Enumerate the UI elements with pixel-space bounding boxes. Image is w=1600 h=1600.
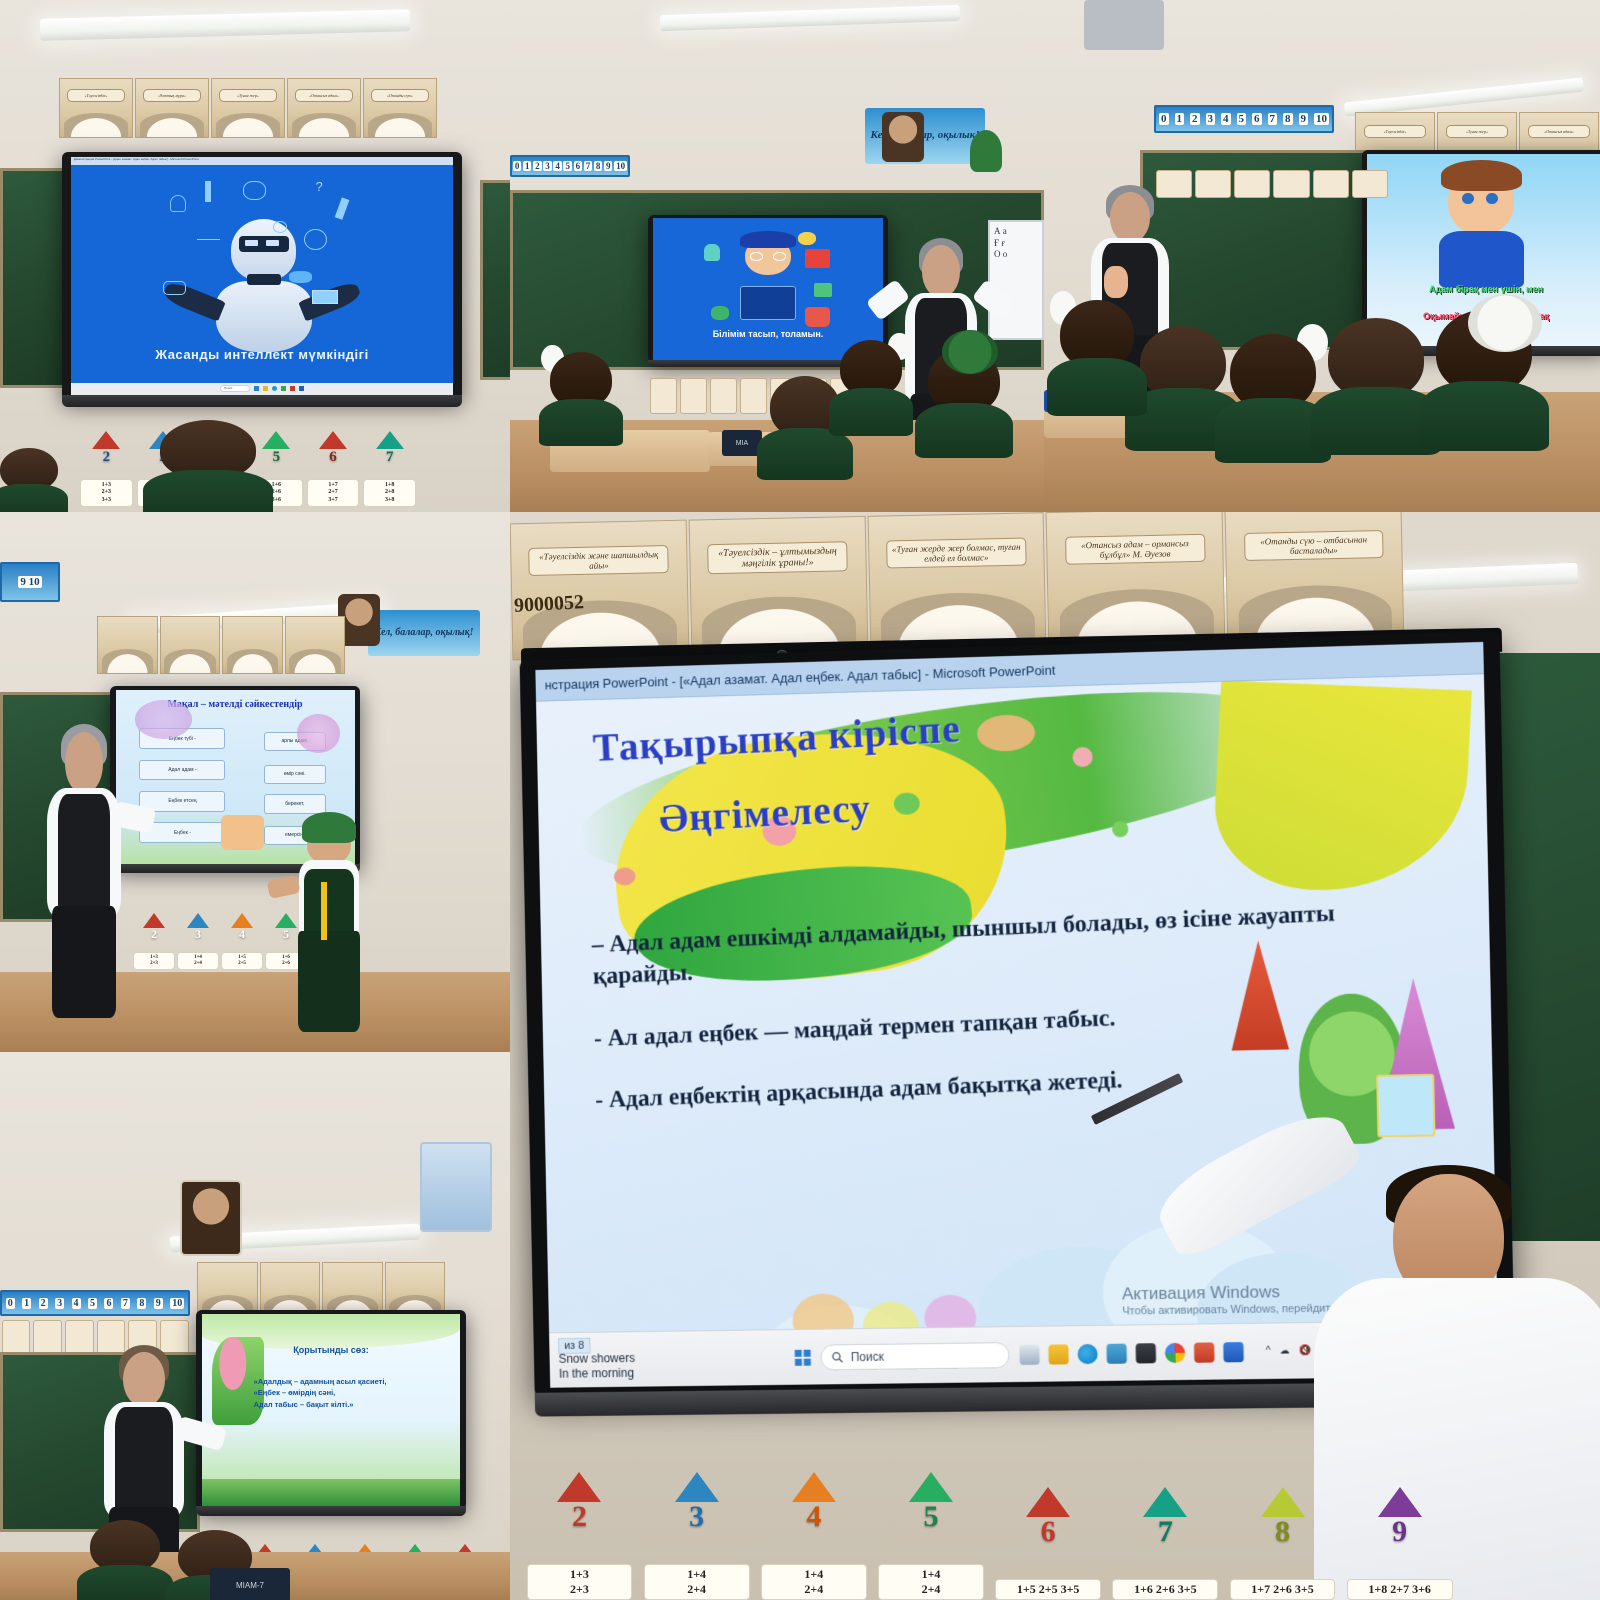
dot-art (977, 714, 1036, 752)
book-icon (805, 249, 830, 267)
pencil-icon (335, 197, 349, 220)
wall-book-posters (96, 616, 346, 674)
search-input[interactable]: Поиск (821, 1341, 1010, 1369)
hair-bow (1468, 294, 1542, 352)
pencil-poster: 2 1+32+3 (527, 1472, 633, 1600)
pupil (1328, 318, 1424, 450)
pencil-number: 2 (527, 1500, 633, 1534)
teacher (40, 732, 128, 1012)
pencil-card: 1+6 2+6 3+5 (1112, 1579, 1218, 1600)
cloud-icon (289, 271, 312, 283)
chart-icon (197, 224, 220, 241)
number-line-poster: 012345678910 (1154, 105, 1334, 133)
number-pencil-posters: 2 1+32+3 3 1+42+4 4 1+42+4 5 1+42+4 6 (521, 1404, 1458, 1600)
exclamation-icon (205, 181, 211, 202)
powerpoint-icon[interactable] (290, 386, 295, 391)
pupil (1060, 300, 1134, 412)
wall-poster: «Тәуелсіздік және шапшылдық айы» (510, 520, 689, 661)
dot-art (1112, 821, 1128, 837)
dot-art (613, 867, 635, 885)
pencil-poster: 6 1+5 2+5 3+5 (995, 1487, 1101, 1600)
slide-line-2: Адал табыс – бақыт кілті.» (254, 1399, 445, 1411)
mail-icon (312, 290, 339, 304)
folder-icon[interactable] (1049, 1344, 1069, 1364)
palette-icon (798, 232, 816, 245)
pencil-poster: 7 1+6 2+6 3+5 (1112, 1487, 1218, 1600)
wall-poster-text: «Туған жерде жер болмас, туған елдей ел … (886, 538, 1026, 569)
plant (970, 130, 1002, 172)
panel-teacher-arms: Кел, балалар, оқылық! 012345678910 Білім… (510, 0, 1044, 512)
store-icon[interactable] (1107, 1343, 1128, 1363)
powerpoint-icon[interactable] (1194, 1342, 1215, 1362)
panel-proverb-matching: 9 10 Кел, балалар, оқылық! Мақал – мәтел… (0, 512, 510, 1052)
slide-title-line1: Тақырыпқа кіріспе (591, 705, 961, 772)
math-card-row (0, 1320, 190, 1354)
slide-body: – Адал адам ешкімді алдамайды, шыншыл бо… (591, 904, 1377, 1140)
flask-icon (704, 244, 720, 261)
pencil-poster: 5 1+42+4 (878, 1472, 984, 1600)
wall-banner: Кел, балалар, оқылық! (368, 610, 480, 656)
pencil-number: 9 (1347, 1515, 1453, 1549)
tablet-icon (740, 286, 795, 320)
boy-hair-icon (740, 231, 795, 248)
wall-poster-text: «Тәуелсіздік – ұлтымыздың мәңгілік ұраны… (707, 542, 847, 575)
edge-icon[interactable] (272, 386, 277, 391)
pencil-poster: 4 1+42+4 (761, 1472, 867, 1600)
pencil-card: 1+8 2+7 3+6 (1347, 1579, 1453, 1600)
windows-logo-icon[interactable] (795, 1349, 811, 1365)
wall-poster-text: «Отансыз адам – ормансыз бұлбұл» М. Әуез… (1065, 534, 1205, 565)
interactive-whiteboard[interactable]: Демонстрация PowerPoint - [Адал азамат. … (62, 152, 462, 400)
dot-art (1072, 747, 1092, 768)
file-explorer-icon[interactable] (254, 386, 259, 391)
pupil (90, 1520, 160, 1600)
pencil-number: 8 (1230, 1515, 1336, 1549)
dot-art (893, 792, 919, 815)
bulb-icon (170, 195, 185, 212)
slide-body-line-0: – Адал адам ешкімді алдамайды, шыншыл бо… (591, 896, 1375, 993)
office-icon[interactable] (1136, 1342, 1157, 1362)
portrait-photo (882, 112, 924, 162)
teacher-hands (1104, 266, 1128, 298)
window-art (1376, 1074, 1435, 1137)
backpack-icon (805, 307, 830, 327)
robot-body-icon (216, 281, 312, 352)
pencil-number: 7 (1112, 1515, 1218, 1549)
weather-widget[interactable]: Snow showers In the morning (558, 1350, 635, 1381)
pupil-at-board (290, 812, 368, 1032)
search-placeholder: Поиск (851, 1349, 884, 1363)
pupil (840, 340, 902, 432)
headdress (942, 330, 998, 374)
serial-label: 9000052 (514, 591, 585, 618)
pencil-number: 3 (644, 1500, 750, 1534)
panel-main-presentation: «Тәуелсіздік және шапшылдық айы» «Тәуелс… (510, 512, 1600, 1600)
number-line-poster: 9 10 (0, 562, 60, 602)
desk-label: МІА (722, 430, 762, 456)
pencil-number: 5 (878, 1500, 984, 1534)
flipchart: А аҒ ғО о (988, 220, 1044, 340)
pencil-card: 1+5 2+5 3+5 (995, 1579, 1101, 1600)
flower-art (135, 700, 192, 738)
flower-art (297, 714, 340, 752)
folder-icon[interactable] (263, 386, 268, 391)
wall-book-posters: «Тәуелсіздік» «Ұлттық мұра» «Туған жер» … (58, 78, 438, 138)
panel-conclusion-slide: 012345678910 Қорытынды сөз: «Адалдық – а… (0, 1052, 510, 1600)
proverb-right-1[interactable]: өмір сәні. (264, 765, 326, 784)
chevron-up-icon[interactable]: ^ (1266, 1346, 1271, 1357)
lime-corner-art (1212, 680, 1472, 896)
math-card-row (1154, 170, 1390, 198)
search-input[interactable]: Поиск (220, 385, 250, 392)
grass-art (202, 1479, 460, 1506)
slide-body-line-2: - Адал еңбектің арқасында адам бақытқа ж… (594, 1054, 1376, 1116)
number-line-poster: 012345678910 (0, 1290, 190, 1316)
weather-line-1: Snow showers (558, 1350, 635, 1366)
pinned-apps[interactable] (1020, 1341, 1244, 1364)
wall-poster: «Отансыз адам – ормансыз бұлбұл» М. Әуез… (1046, 512, 1226, 649)
slide-line1: Адам бірақ мен үшін, мен (1367, 284, 1600, 294)
edge-icon[interactable] (1078, 1343, 1098, 1363)
photo-collage: «Тәуелсіздік» «Ұлттық мұра» «Туған жер» … (0, 0, 1600, 1600)
wall-poster-text: «Тәуелсіздік және шапшылдық айы» (529, 546, 669, 577)
word-icon[interactable] (299, 386, 304, 391)
green-chalkboard-right (480, 180, 510, 380)
word-icon[interactable] (1224, 1341, 1245, 1361)
store-icon[interactable] (281, 386, 286, 391)
slide-caption: Білімім тасып, толамын. (653, 329, 882, 339)
pupil (1140, 326, 1226, 446)
number-line-poster: 012345678910 (510, 155, 630, 177)
pupil (1230, 334, 1316, 458)
slide-body-line-1: - Ал адал еңбек — маңдай термен тапқан т… (593, 992, 1375, 1056)
chrome-icon[interactable] (1165, 1342, 1186, 1362)
globe-icon (711, 306, 729, 320)
interactive-whiteboard[interactable]: Қорытынды сөз: «Адалдық – адамның асыл қ… (196, 1310, 466, 1510)
pencil-number: 6 (995, 1515, 1101, 1549)
chat-icon (163, 281, 186, 295)
weather-line-2: In the morning (559, 1365, 636, 1381)
search-icon (832, 1351, 844, 1363)
slide-title: Жасанды интеллект мүмкіндігі (71, 347, 453, 362)
slide-title-line2: Әңгімелесу (658, 784, 872, 842)
portrait-photo (180, 1180, 242, 1256)
desk-label: МІАМ-7 (210, 1568, 290, 1600)
wall-poster: «Отанды сүю – отбасынан басталады» (1225, 512, 1405, 646)
pupil (160, 420, 256, 512)
slide-title: Қорытынды сөз: (202, 1345, 460, 1355)
globe-icon (304, 229, 327, 250)
boy-shirt-icon (1439, 231, 1524, 288)
wall-poster: «Тәуелсіздік – ұлтымыздың мәңгілік ұраны… (688, 516, 868, 657)
wall-poster: «Туған жерде жер болмас, туған елдей ел … (867, 512, 1047, 653)
pupil (550, 352, 612, 442)
panel-teacher-clapping: 012345678910 «Тәуелсіздік» «Туған жер» «… (1044, 0, 1600, 512)
panel-ai-slide: «Тәуелсіздік» «Ұлттық мұра» «Туған жер» … (0, 0, 510, 512)
proverb-right-2[interactable]: берекет. (264, 794, 326, 813)
slide-line-0: «Адалдық – адамның асыл қасиеті, (254, 1376, 445, 1388)
file-explorer-icon[interactable] (1020, 1344, 1040, 1364)
pencil-card: 1+7 2+6 3+5 (1230, 1579, 1336, 1600)
wall-poster-text: «Отанды сүю – отбасынан басталады» (1244, 531, 1384, 562)
pencil-number: 4 (761, 1500, 867, 1534)
pencil-poster: 9 1+8 2+7 3+6 (1347, 1487, 1453, 1600)
pencil-poster: 8 1+7 2+6 3+5 (1230, 1487, 1336, 1600)
pencil-poster: 3 1+42+4 (644, 1472, 750, 1600)
proverb-left-1[interactable]: Адал адам - (139, 760, 225, 781)
projector (1084, 0, 1164, 50)
ppt-titlebar: Демонстрация PowerPoint - [Адал азамат. … (71, 157, 453, 165)
wall-poster (420, 1142, 492, 1232)
boy-hair-icon (1441, 160, 1522, 191)
pupil (0, 448, 58, 512)
eraser-icon (814, 283, 832, 297)
slide-line-1: «Еңбек – өмірдің сәні, (254, 1387, 445, 1399)
brain-icon (243, 181, 266, 200)
onedrive-icon[interactable]: ☁ (1279, 1345, 1289, 1356)
question-icon: ? (316, 179, 331, 200)
children-art (221, 815, 264, 850)
